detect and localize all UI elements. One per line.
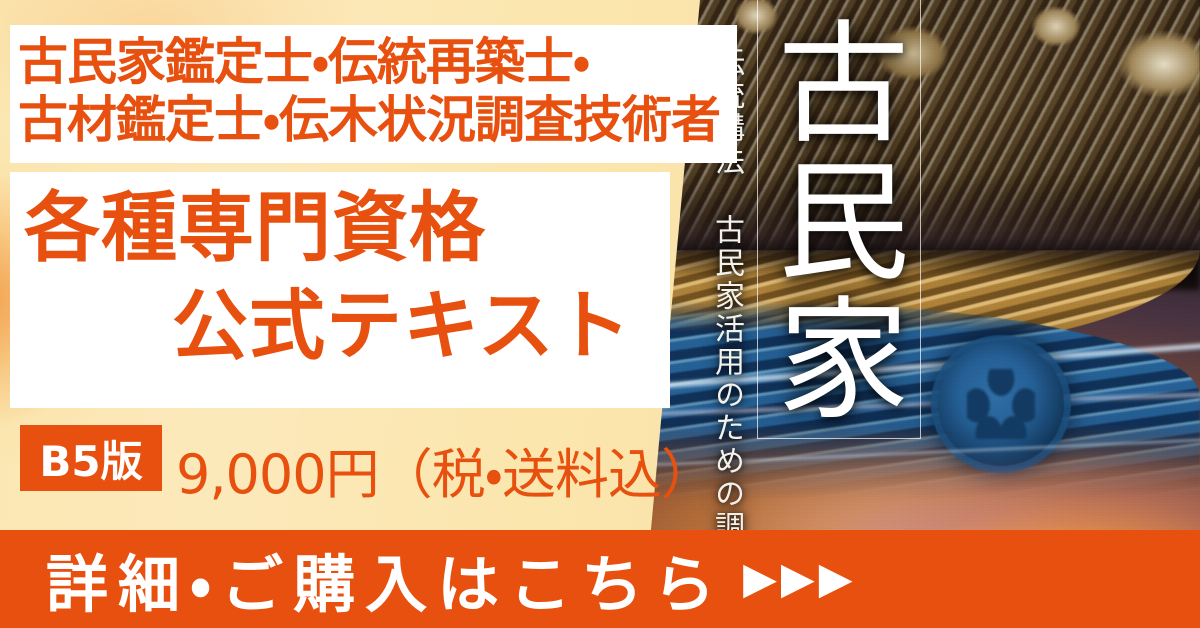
- book-cover-title: 古民家: [773, 14, 901, 434]
- qualification-line-1: 古民家鑑定士・伝統再築士・: [18, 37, 589, 87]
- qualification-line-2: 古材鑑定士・伝木状況調査技術者: [18, 95, 720, 145]
- price-amount: 9,000円（税・送料込）: [176, 430, 714, 509]
- cta-label: 詳細・ご購入はこちら: [46, 534, 725, 624]
- triple-right-arrow-icon: ▶▶▶: [743, 557, 857, 601]
- headline-line-1: 各種専門資格: [24, 190, 486, 266]
- promo-banner: 古民家 伝統構法 古民家活用のための調査と再生の 古民家鑑定士・伝統再築士・ 古…: [0, 0, 1200, 628]
- cta-button[interactable]: 詳細・ご購入はこちら ▶▶▶: [0, 530, 1200, 628]
- headline-line-2: 公式テキスト: [172, 288, 632, 364]
- book-size-badge: B5版: [20, 425, 162, 491]
